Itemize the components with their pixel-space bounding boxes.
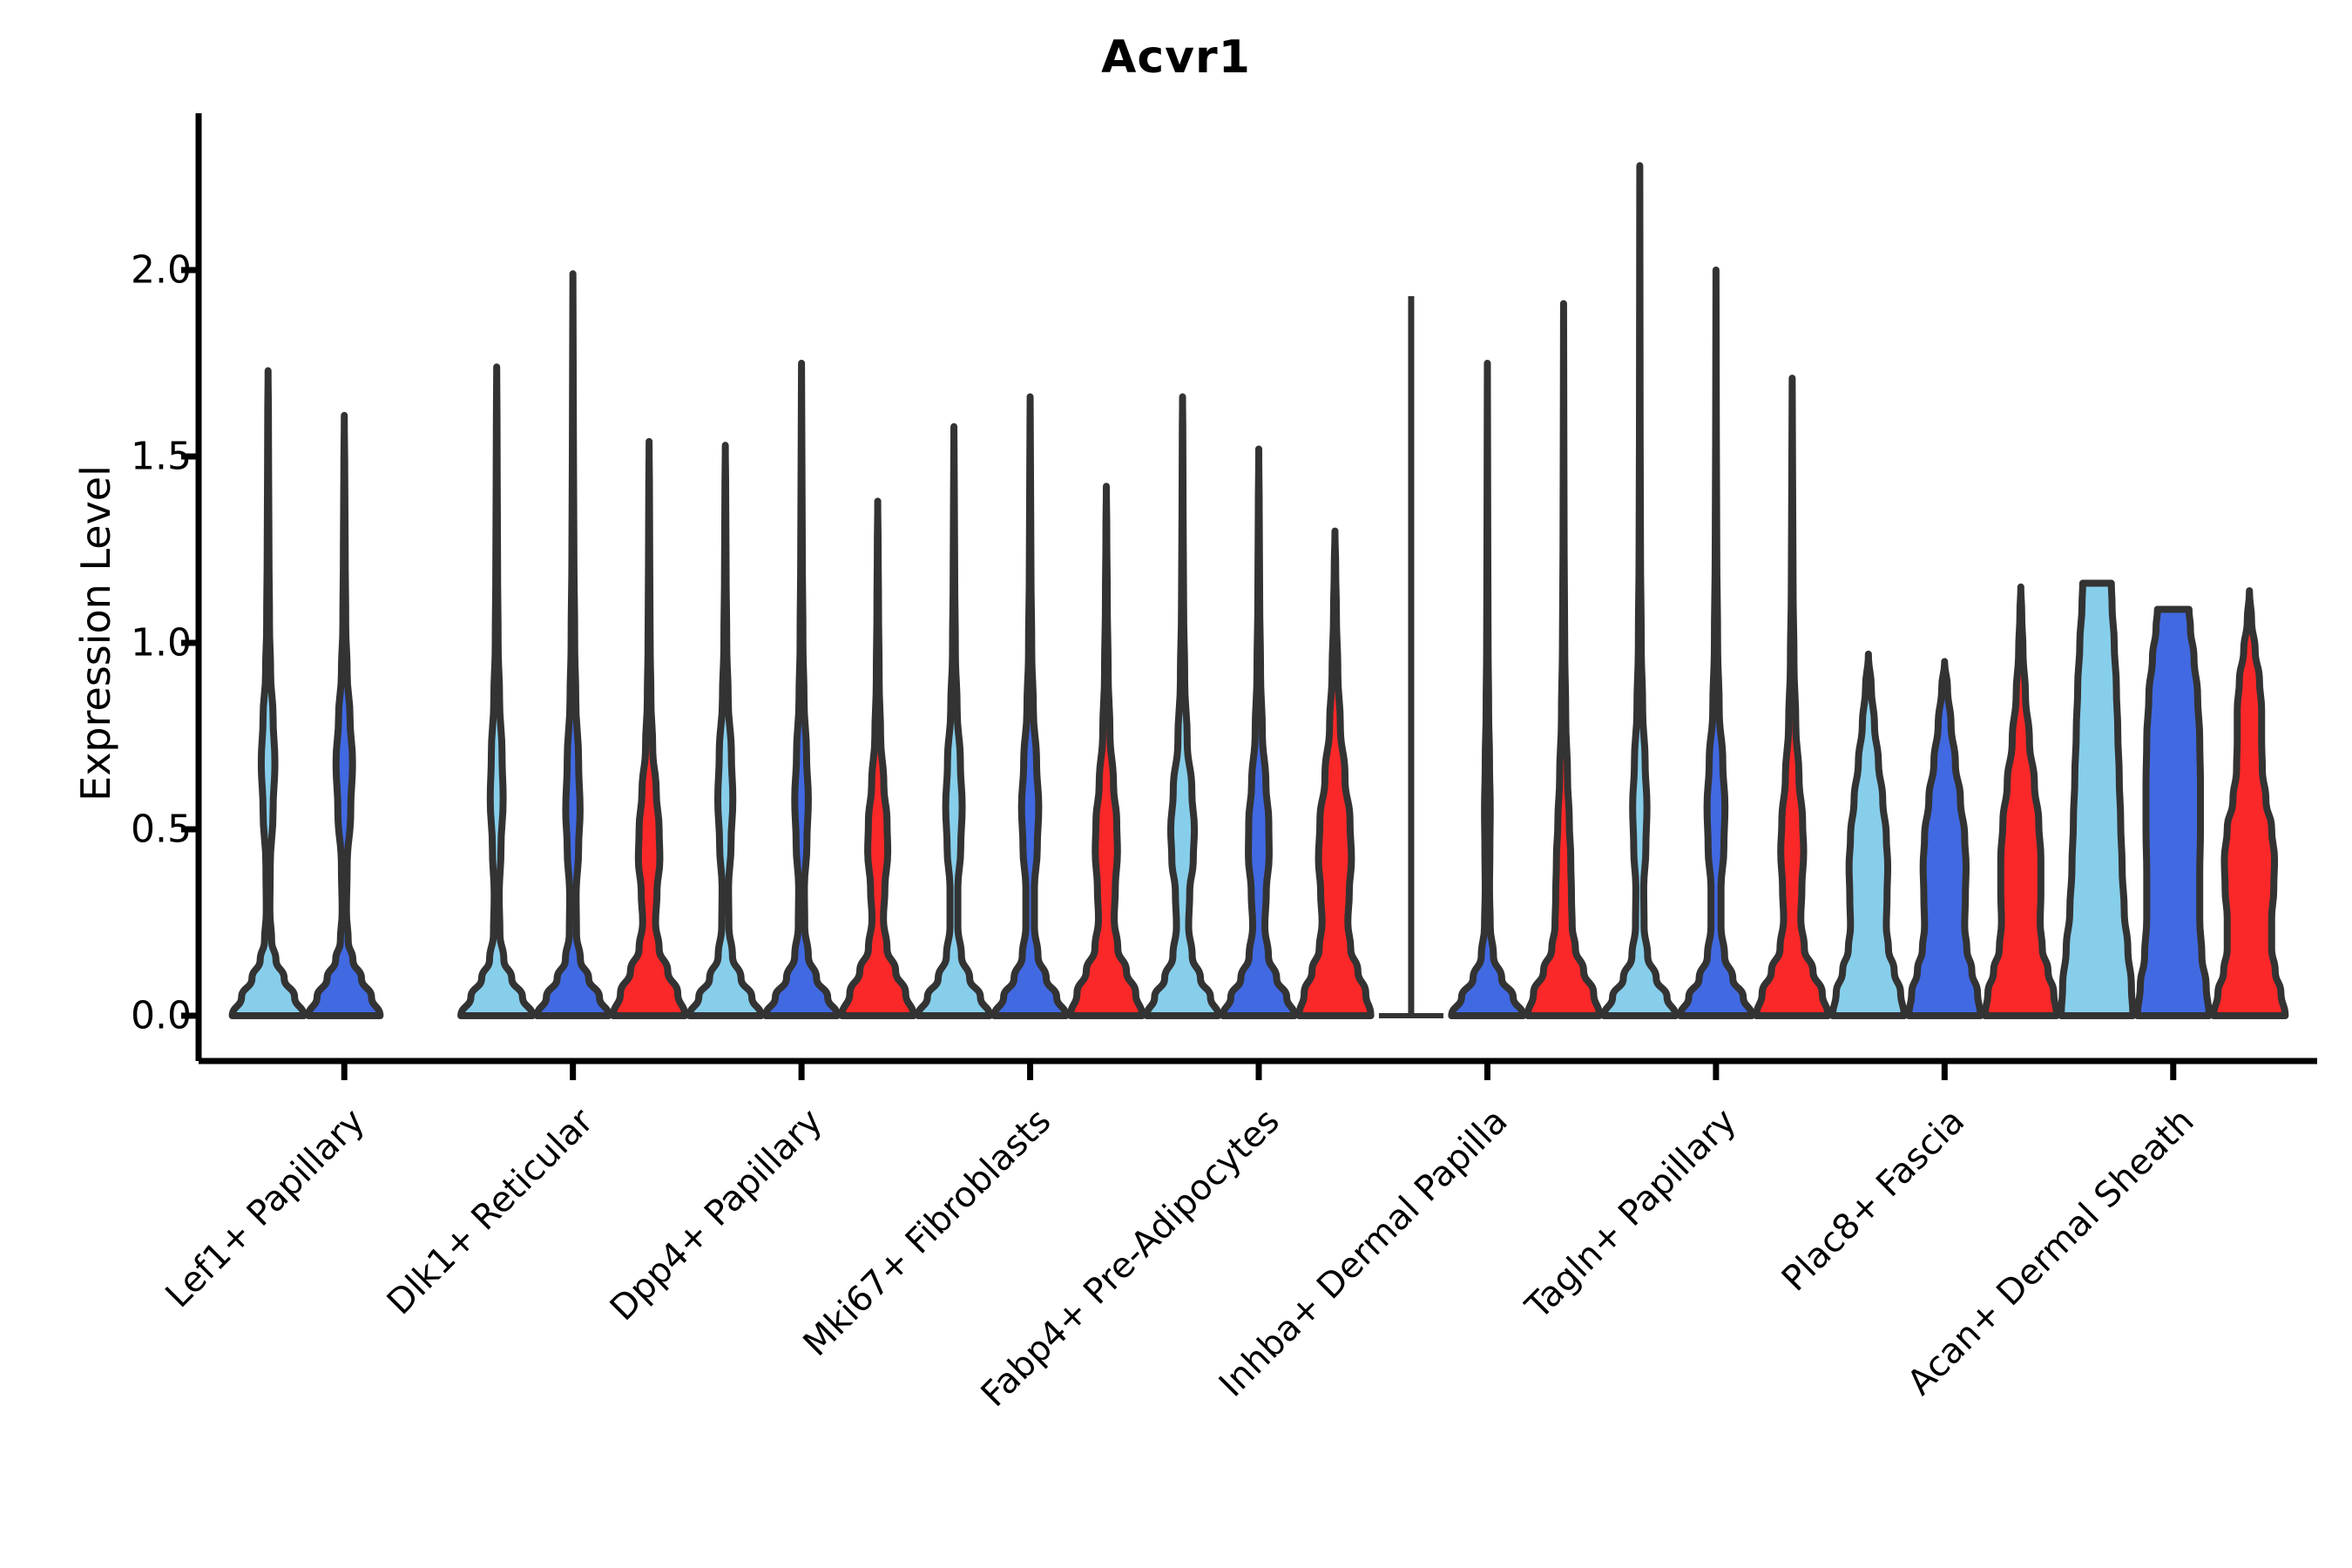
violin-plot-figure: Acvr1 Expression Level 0.00.51.01.52.0 L… [0,0,2352,1568]
violin-shape [2138,609,2209,1016]
violin-shape [613,442,685,1016]
violin-shape [690,445,761,1016]
plot-canvas [0,0,2352,1568]
violin-shape [1071,486,1142,1016]
violin-shape [233,371,304,1016]
violin-shape [1146,397,1218,1016]
violin-shape [1604,166,1675,1016]
violin-shape [461,367,532,1016]
violin-shape [2213,591,2285,1016]
violin-shape [1756,378,1828,1016]
violin-shape [1528,304,1599,1016]
violin-shape [308,416,380,1016]
violin-shape [2061,584,2132,1016]
violin-shape [766,363,837,1016]
violin-shape [1909,661,1980,1016]
violin-shape [918,427,990,1016]
violin-shape [841,501,913,1016]
violin-shape [1223,449,1294,1016]
violin-shape [1680,270,1752,1016]
violin-shape [1985,587,2057,1016]
violin-shape [1451,363,1523,1016]
violin-series-layer [233,166,2286,1016]
violin-shape [537,274,609,1016]
violin-shape [994,397,1065,1016]
violin-shape [1299,531,1370,1016]
violin-shape [1833,654,1904,1016]
